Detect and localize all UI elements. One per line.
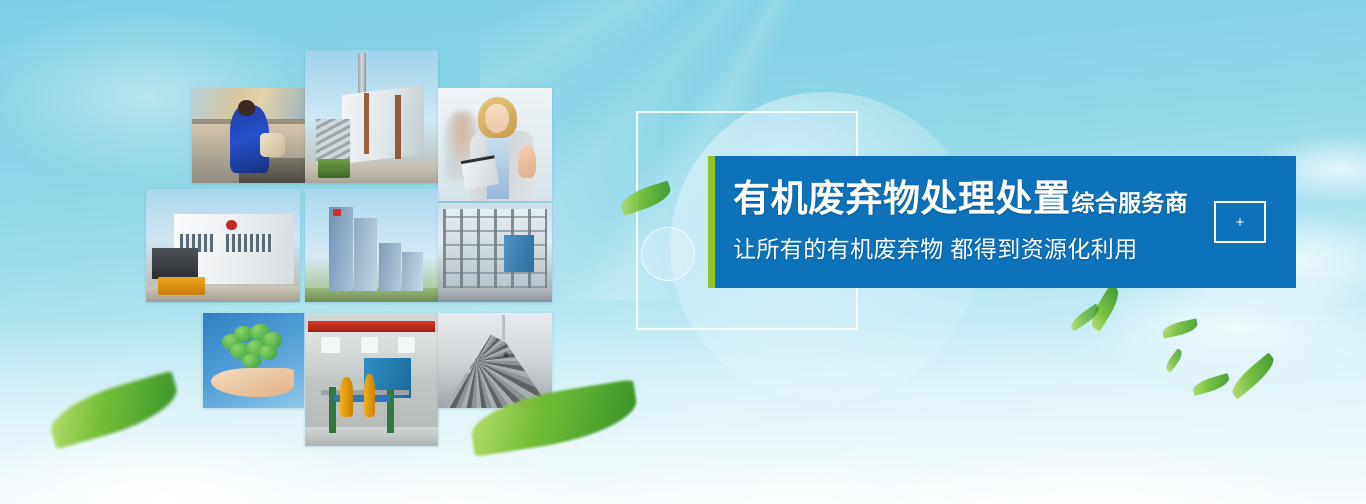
photo-detail — [361, 337, 378, 353]
photo-detail — [226, 234, 272, 252]
leaf-icon — [1161, 318, 1199, 338]
photo-detail — [305, 427, 438, 446]
headline: 有机废弃物处理处置 综合服务商 — [733, 180, 1296, 217]
photo-workshop-pipework[interactable] — [305, 313, 438, 446]
photo-detail — [445, 330, 550, 408]
photo-detail — [502, 315, 505, 340]
photo-detail — [342, 85, 424, 164]
plus-button[interactable]: + — [1214, 201, 1266, 243]
photo-detail — [354, 218, 377, 290]
leaf-icon — [1163, 348, 1185, 372]
photo-city-office-towers[interactable] — [305, 189, 438, 302]
small-circle-decoration — [641, 227, 695, 281]
photo-detail — [485, 104, 509, 133]
photo-detail — [260, 133, 285, 158]
photo-detail — [402, 252, 423, 290]
leaf-icon — [1086, 284, 1124, 331]
photo-leaf-heart-in-hand[interactable] — [203, 313, 304, 408]
leaf-icon — [1227, 353, 1279, 400]
photo-detail — [152, 248, 198, 280]
photo-detail — [395, 95, 400, 159]
leaf-icon — [1068, 303, 1102, 331]
photo-detail — [364, 374, 376, 417]
photo-detail — [340, 377, 353, 417]
headline-sub-text: 综合服务商 — [1072, 192, 1189, 215]
photo-detail — [221, 321, 286, 374]
banner-hero-stage: 有机废弃物处理处置 综合服务商 让所有的有机废弃物 都得到资源化利用 + — [0, 0, 1366, 504]
photo-steel-structure-plant[interactable] — [438, 203, 552, 302]
photo-detail — [308, 321, 436, 332]
photo-detail — [364, 93, 369, 154]
photo-detail — [461, 155, 500, 190]
banner-subtitle: 让所有的有机废弃物 都得到资源化利用 — [733, 230, 1296, 264]
banner-text-group: 有机废弃物处理处置 综合服务商 让所有的有机废弃物 都得到资源化利用 — [708, 180, 1296, 264]
photo-detail — [329, 207, 353, 291]
photo-collage — [0, 0, 600, 504]
leaf-icon — [1191, 373, 1231, 396]
photo-detail — [238, 100, 255, 115]
photo-detail — [329, 387, 336, 432]
photo-detail — [158, 277, 204, 295]
photo-detail — [504, 235, 534, 273]
photo-factory-building[interactable] — [146, 189, 300, 302]
photo-detail — [316, 119, 351, 164]
photo-detail — [398, 337, 415, 353]
photo-worker-feeding-material[interactable] — [192, 88, 305, 183]
photo-detail — [518, 145, 536, 179]
photo-detail — [321, 337, 340, 353]
photo-detail — [438, 288, 552, 302]
photo-incineration-plant[interactable] — [305, 50, 438, 183]
photo-detail — [211, 368, 294, 397]
headline-banner: 有机废弃物处理处置 综合服务商 让所有的有机废弃物 都得到资源化利用 + — [708, 156, 1296, 288]
headline-main-text: 有机废弃物处理处置 — [733, 180, 1071, 217]
photo-detail — [226, 220, 237, 230]
photo-businesswoman-thumbs-up[interactable] — [438, 88, 552, 201]
photo-detail — [318, 159, 350, 178]
photo-detail — [333, 209, 341, 216]
photo-detail — [379, 243, 400, 290]
photo-processed-residue-pile[interactable] — [438, 313, 552, 408]
